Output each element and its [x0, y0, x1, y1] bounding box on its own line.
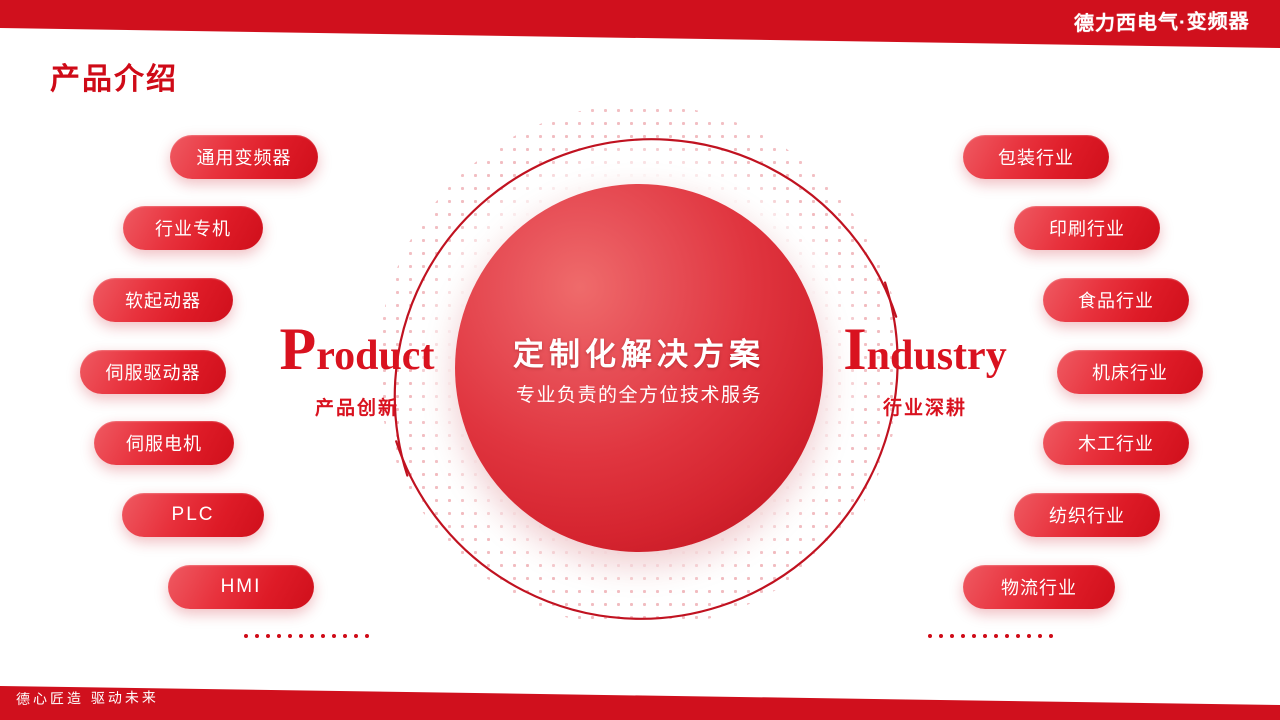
- product-pill-hangyezhuanji[interactable]: 行业专机: [123, 206, 263, 250]
- decoration-dot: [266, 634, 270, 638]
- decoration-dot: [354, 634, 358, 638]
- product-pill-plc[interactable]: PLC: [122, 493, 264, 537]
- left-heading-cn: 产品创新: [262, 393, 452, 420]
- decoration-dot: [1027, 634, 1031, 638]
- industry-pill-baozhuang[interactable]: 包装行业: [963, 135, 1109, 179]
- center-subtitle: 专业负责的全方位技术服务: [516, 380, 762, 407]
- decoration-dot: [332, 634, 336, 638]
- decoration-dot: [365, 634, 369, 638]
- product-pill-ruanqidongqi[interactable]: 软起动器: [93, 278, 233, 322]
- brand-logo: 德力西电气·变频器: [1074, 5, 1250, 37]
- decoration-dot: [961, 634, 965, 638]
- product-pill-sifudianji[interactable]: 伺服电机: [94, 421, 234, 465]
- decoration-dot: [1005, 634, 1009, 638]
- decoration-dot: [1038, 634, 1042, 638]
- product-pill-tongyongbianpinqi[interactable]: 通用变频器: [170, 135, 318, 179]
- decoration-dot: [277, 634, 281, 638]
- right-heading-cn: 行业深耕: [830, 393, 1020, 420]
- page-title: 产品介绍: [50, 54, 178, 98]
- decoration-dot: [244, 634, 248, 638]
- dot-decoration-left: [244, 634, 369, 638]
- right-heading-en: Industry: [830, 318, 1020, 381]
- decoration-dot: [321, 634, 325, 638]
- left-section-heading: Product 产品创新: [262, 318, 452, 420]
- left-heading-en: Product: [262, 318, 452, 381]
- industry-pill-wuliu[interactable]: 物流行业: [963, 565, 1115, 609]
- dot-decoration-right: [928, 634, 1053, 638]
- left-heading-rest: roduct: [316, 333, 434, 379]
- footer-slogan: 德心匠造 驱动未来: [16, 687, 159, 709]
- center-title: 定制化解决方案: [513, 329, 765, 374]
- decoration-dot: [950, 634, 954, 638]
- industry-pill-shipin[interactable]: 食品行业: [1043, 278, 1189, 322]
- decoration-dot: [255, 634, 259, 638]
- industry-pill-yinshua[interactable]: 印刷行业: [1014, 206, 1160, 250]
- right-heading-rest: ndustry: [867, 333, 1007, 379]
- footer-band: [0, 665, 1280, 720]
- decoration-dot: [299, 634, 303, 638]
- slide-canvas: 德力西电气·变频器 产品介绍 定制化解决方案 专业负责的全方位技术服务 Prod…: [0, 0, 1280, 720]
- right-section-heading: Industry 行业深耕: [830, 318, 1020, 420]
- decoration-dot: [972, 634, 976, 638]
- center-text-group: 定制化解决方案 专业负责的全方位技术服务: [455, 184, 823, 552]
- left-heading-initial: P: [280, 316, 317, 382]
- industry-pill-fangzhi[interactable]: 纺织行业: [1014, 493, 1160, 537]
- industry-pill-jichuang[interactable]: 机床行业: [1057, 350, 1203, 394]
- product-pill-sifuqudongqi[interactable]: 伺服驱动器: [80, 350, 226, 394]
- decoration-dot: [939, 634, 943, 638]
- decoration-dot: [983, 634, 987, 638]
- decoration-dot: [1049, 634, 1053, 638]
- decoration-dot: [928, 634, 932, 638]
- product-pill-hmi[interactable]: HMI: [168, 565, 314, 609]
- right-heading-initial: I: [843, 316, 866, 382]
- decoration-dot: [288, 634, 292, 638]
- decoration-dot: [994, 634, 998, 638]
- industry-pill-mugong[interactable]: 木工行业: [1043, 421, 1189, 465]
- decoration-dot: [343, 634, 347, 638]
- decoration-dot: [310, 634, 314, 638]
- decoration-dot: [1016, 634, 1020, 638]
